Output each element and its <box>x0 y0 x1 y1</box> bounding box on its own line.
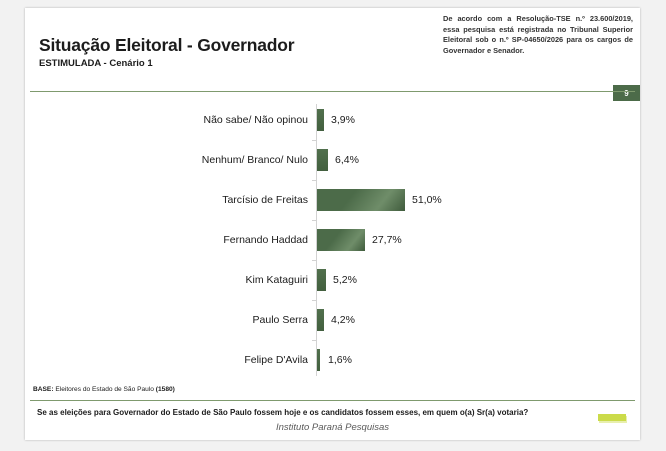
value-label: 5,2% <box>333 274 357 286</box>
base-label: BASE: <box>33 386 54 393</box>
page-number-badge: 9 <box>613 85 640 101</box>
slide-canvas: Situação Eleitoral - Governador ESTIMULA… <box>25 8 640 440</box>
title-block: Situação Eleitoral - Governador ESTIMULA… <box>39 36 294 69</box>
chart-row: Kim Kataguiri 5,2% <box>25 260 640 300</box>
chart-row: Fernando Haddad 27,7% <box>25 220 640 260</box>
base-description: Eleitores do Estado de São Paulo <box>54 386 156 393</box>
value-label: 4,2% <box>331 314 355 326</box>
bar-chart: Não sabe/ Não opinou 3,9% Nenhum/ Branco… <box>25 100 640 380</box>
chart-row: Paulo Serra 4,2% <box>25 300 640 340</box>
category-label: Nenhum/ Branco/ Nulo <box>202 154 308 166</box>
slide-header: Situação Eleitoral - Governador ESTIMULA… <box>25 8 640 92</box>
slide-footer: BASE: Eleitores do Estado de São Paulo (… <box>25 380 640 440</box>
value-label: 51,0% <box>412 194 442 206</box>
footer-divider <box>30 400 635 401</box>
bar-segment <box>317 349 320 371</box>
institute-logo-icon <box>598 414 626 421</box>
bar-segment <box>317 189 405 211</box>
bar-segment <box>317 109 324 131</box>
legal-disclaimer-text: De acordo com a Resolução-TSE n.º 23.600… <box>443 14 633 56</box>
bar-segment <box>317 309 324 331</box>
header-divider <box>30 91 635 92</box>
value-label: 27,7% <box>372 234 402 246</box>
page-title: Situação Eleitoral - Governador <box>39 36 294 55</box>
chart-row: Não sabe/ Não opinou 3,9% <box>25 100 640 140</box>
survey-question: Se as eleições para Governador do Estado… <box>37 408 617 417</box>
category-label: Felipe D'Avila <box>244 354 308 366</box>
value-label: 3,9% <box>331 114 355 126</box>
value-label: 6,4% <box>335 154 359 166</box>
chart-rows: Não sabe/ Não opinou 3,9% Nenhum/ Branco… <box>25 100 640 380</box>
bar-segment <box>317 269 326 291</box>
category-label: Tarcísio de Freitas <box>222 194 308 206</box>
category-label: Kim Kataguiri <box>246 274 308 286</box>
page-subtitle: ESTIMULADA - Cenário 1 <box>39 58 294 69</box>
bar-segment <box>317 149 328 171</box>
category-label: Não sabe/ Não opinou <box>204 114 309 126</box>
bar-segment <box>317 229 365 251</box>
institute-name: Instituto Paraná Pesquisas <box>25 422 640 433</box>
category-label: Paulo Serra <box>253 314 308 326</box>
chart-row: Tarcísio de Freitas 51,0% <box>25 180 640 220</box>
category-label: Fernando Haddad <box>223 234 308 246</box>
base-line: BASE: Eleitores do Estado de São Paulo (… <box>33 386 175 393</box>
value-label: 1,6% <box>328 354 352 366</box>
chart-row: Felipe D'Avila 1,6% <box>25 340 640 380</box>
base-count: (1580) <box>156 386 175 393</box>
chart-row: Nenhum/ Branco/ Nulo 6,4% <box>25 140 640 180</box>
